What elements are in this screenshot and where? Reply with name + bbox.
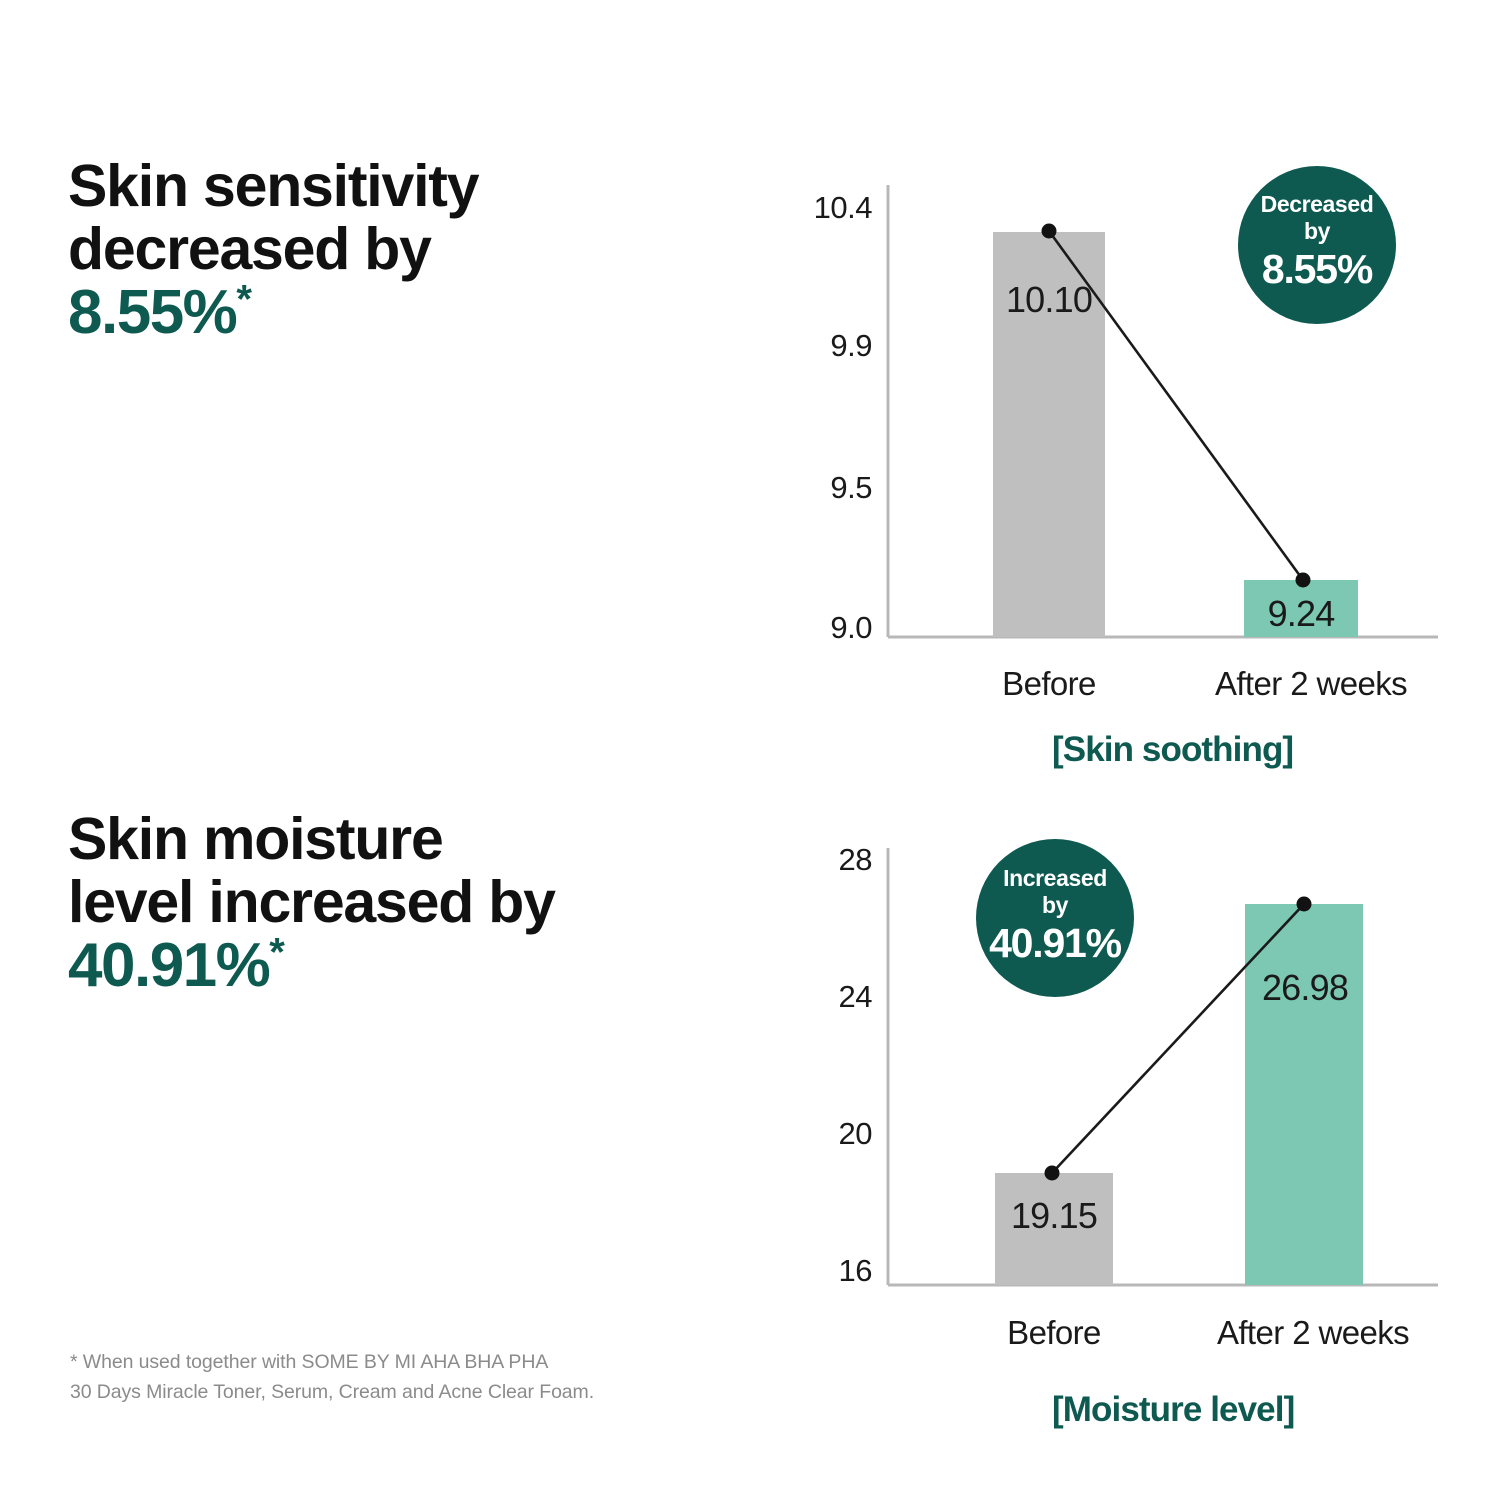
trend-dot-after (1296, 573, 1311, 588)
headline-line-2: decreased by (68, 218, 478, 281)
bar-value-label-after: 9.24 (1268, 593, 1335, 634)
y-tick-label: 9.9 (830, 328, 872, 363)
badge-increased: Increased by 40.91% (976, 839, 1134, 997)
badge-decreased: Decreased by 8.55% (1238, 166, 1396, 324)
headline-line-1: Skin moisture (68, 808, 555, 871)
x-category-label-before: Before (1007, 1314, 1101, 1351)
badge-circle (1238, 166, 1396, 324)
headline-asterisk: * (236, 277, 250, 321)
trend-dot-after (1297, 897, 1312, 912)
badge-circle (976, 839, 1134, 997)
footnote-line-1: * When used together with SOME BY MI AHA… (70, 1348, 594, 1378)
headline-skin-sensitivity: Skin sensitivity decreased by 8.55%* (68, 155, 478, 346)
badge-value: 8.55% (1262, 246, 1373, 292)
badge-line-1: Increased (1003, 865, 1107, 891)
chart-moisture-level-svg: 28 24 20 16 19.15 26.98 Before After 2 w… (760, 820, 1460, 1460)
headline-value: 8.55% (68, 278, 236, 347)
badge-line-2: by (1304, 218, 1331, 244)
headline-skin-moisture: Skin moisture level increased by 40.91%* (68, 808, 555, 999)
headline-asterisk: * (269, 930, 283, 974)
x-category-label-after: After 2 weeks (1215, 665, 1407, 702)
bar-value-label-after: 26.98 (1262, 967, 1348, 1008)
bar-after (1245, 904, 1363, 1285)
y-tick-label: 28 (839, 842, 872, 877)
y-tick-label: 20 (839, 1116, 873, 1151)
caption-skin-soothing: [Skin soothing] (1052, 730, 1293, 770)
y-tick-label: 9.5 (830, 470, 872, 505)
x-category-label-after: After 2 weeks (1217, 1314, 1409, 1351)
headline-line-2: level increased by (68, 871, 555, 934)
x-category-label-before: Before (1002, 665, 1096, 702)
bar-value-label-before: 10.10 (1006, 279, 1092, 320)
footnote: * When used together with SOME BY MI AHA… (70, 1348, 594, 1407)
headline-line-1: Skin sensitivity (68, 155, 478, 218)
badge-value: 40.91% (989, 920, 1122, 966)
trend-dot-before (1045, 1166, 1060, 1181)
badge-line-1: Decreased (1261, 191, 1374, 217)
footnote-line-2: 30 Days Miracle Toner, Serum, Cream and … (70, 1378, 594, 1408)
y-tick-label: 9.0 (830, 610, 872, 645)
y-tick-label: 10.4 (814, 190, 873, 225)
headline-value: 40.91% (68, 931, 269, 1000)
chart-skin-soothing: 10.4 9.9 9.5 9.0 10.10 9.24 Before After… (760, 150, 1460, 790)
chart-moisture-level: 28 24 20 16 19.15 26.98 Before After 2 w… (760, 820, 1460, 1460)
chart-skin-soothing-svg: 10.4 9.9 9.5 9.0 10.10 9.24 Before After… (760, 150, 1460, 790)
badge-line-2: by (1042, 892, 1069, 918)
caption-moisture-level: [Moisture level] (1052, 1390, 1294, 1430)
y-tick-label: 16 (839, 1253, 872, 1288)
y-tick-label: 24 (839, 979, 873, 1014)
trend-dot-before (1042, 224, 1057, 239)
bar-value-label-before: 19.15 (1011, 1195, 1097, 1236)
